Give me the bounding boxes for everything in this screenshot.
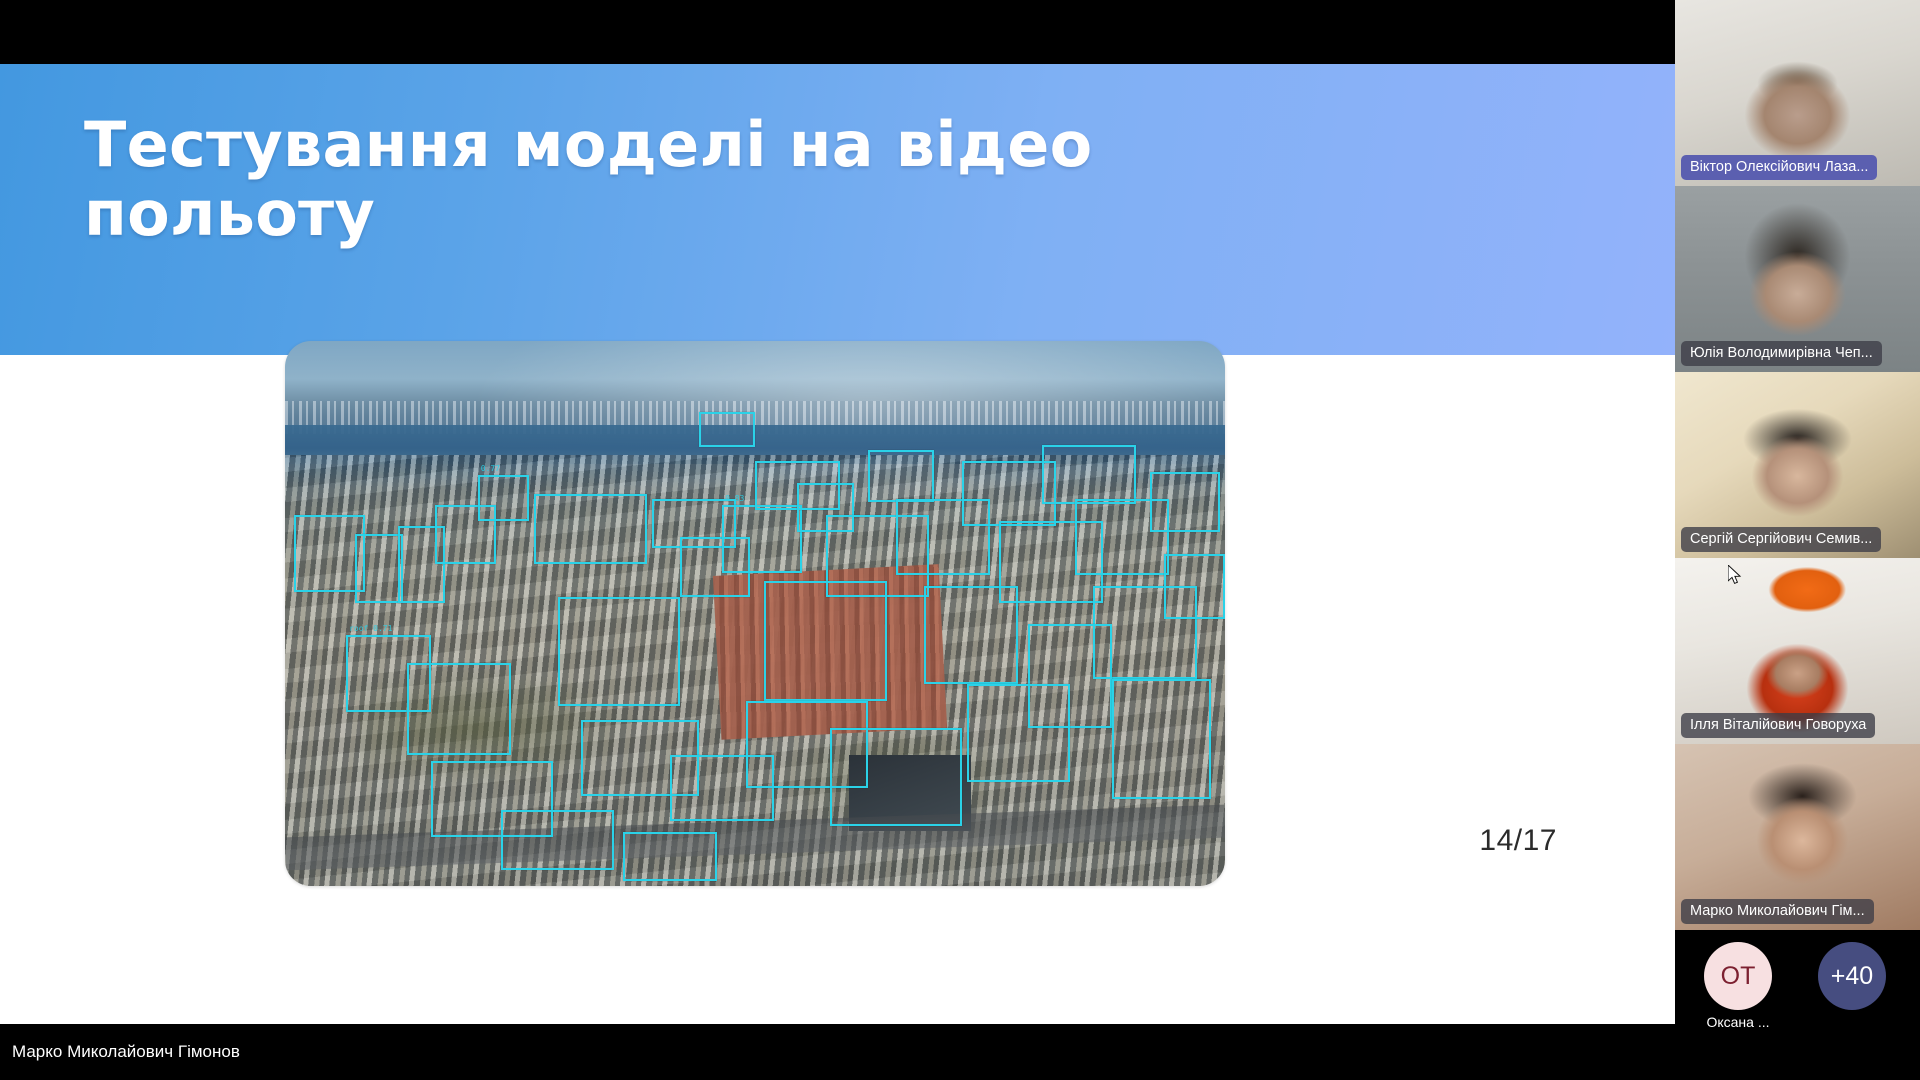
detection-box [1164,554,1225,619]
meeting-screen: Тестування моделі на відео польоту roof … [0,0,1920,1080]
detection-box [407,663,510,756]
more-participants-button[interactable]: +40 [1797,942,1907,1010]
participant-tile[interactable]: Віктор Олексійович Лаза... [1675,0,1920,186]
detection-box [355,534,404,602]
participant-tile[interactable]: Марко Миколайович Гім... [1675,744,1920,930]
slide-page-number: 14/17 [1479,824,1557,858]
detection-box [1112,679,1211,799]
mouse-cursor-icon [1728,565,1742,585]
presenter-name: Марко Миколайович Гімонов [0,1042,240,1062]
detection-box [967,684,1070,782]
detection-result-image: roof 0.710.770.83 [285,341,1225,886]
detection-box [501,810,614,870]
participant-name-label: Віктор Олексійович Лаза... [1681,155,1877,180]
participant-name-label: Ілля Віталійович Говоруха [1681,713,1875,738]
participant-name-label: Сергій Сергійович Семив... [1681,527,1881,552]
detection-box [623,832,717,881]
shared-screen-stage[interactable]: Тестування моделі на відео польоту roof … [0,0,1675,1080]
participant-name-label: Марко Миколайович Гім... [1681,899,1874,924]
participant-avatar[interactable]: ОТОксана ... [1683,942,1793,1030]
detection-box [558,597,680,706]
presentation-slide[interactable]: Тестування моделі на відео польоту roof … [0,64,1675,1024]
detection-box [868,450,934,502]
avatar-name-label: Оксана ... [1683,1014,1793,1030]
participant-name-label: Юлія Володимирівна Чеп... [1681,341,1882,366]
participant-tile[interactable]: Сергій Сергійович Семив... [1675,372,1920,558]
detection-box: 0.83 [722,505,802,573]
participant-filmstrip[interactable]: Віктор Олексійович Лаза...Юлія Володимир… [1675,0,1920,1080]
participant-tile[interactable]: Юлія Володимирівна Чеп... [1675,186,1920,372]
detection-box [1150,472,1221,532]
detection-box [1042,445,1136,505]
detection-confidence-label: 0.77 [481,464,500,473]
detection-box [764,581,886,701]
detection-confidence-label: roof 0.71 [349,624,392,633]
overflow-count-badge: +40 [1818,942,1886,1010]
detection-box [534,494,647,565]
participant-tile[interactable]: Ілля Віталійович Говоруха [1675,558,1920,744]
overflow-participants-row[interactable]: ОТОксана ...+40 [1675,930,1920,1080]
detection-box [699,412,755,447]
detection-confidence-label: 0.83 [725,494,744,503]
participant-tiles: Віктор Олексійович Лаза...Юлія Володимир… [1675,0,1920,930]
avatar-initials: ОТ [1704,942,1772,1010]
slide-title: Тестування моделі на відео польоту [84,110,1264,249]
detection-box: 0.77 [478,475,530,521]
presenter-name-bar: Марко Миколайович Гімонов [0,1024,1675,1080]
detection-box [830,728,962,826]
slide-title-band: Тестування моделі на відео польоту [0,64,1675,355]
